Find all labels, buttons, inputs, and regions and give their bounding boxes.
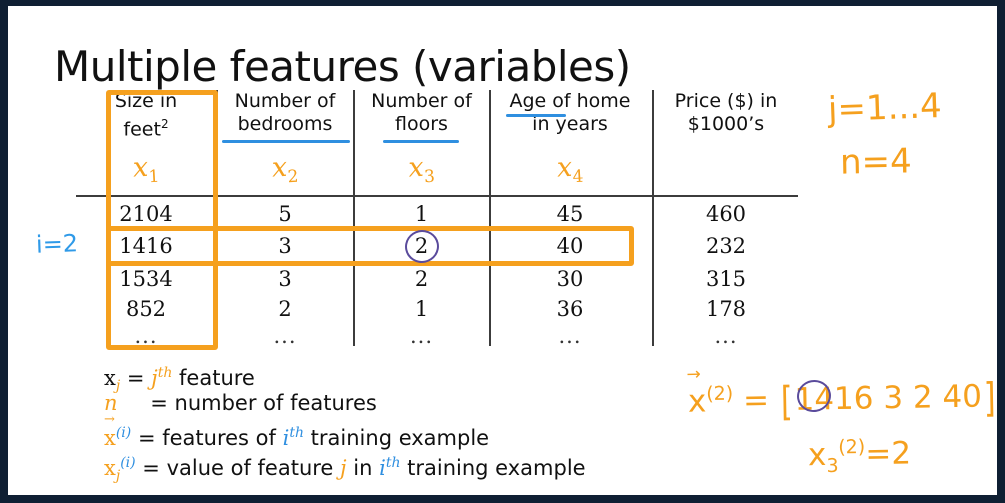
table-cell: 178 bbox=[654, 297, 798, 321]
table-cell: ... bbox=[491, 324, 649, 348]
def-ordinal-j: j bbox=[340, 456, 347, 480]
header-line2: floors bbox=[355, 113, 488, 136]
def-equals: = bbox=[127, 366, 145, 390]
def-sup-i: (i) bbox=[116, 425, 131, 441]
annotation-j-range: j=1...4 bbox=[827, 86, 942, 130]
annotation-x3-superscript: (2) bbox=[838, 436, 865, 458]
def-equals: = bbox=[138, 426, 156, 450]
def-text: value of feature bbox=[167, 456, 334, 480]
def-var-x: x bbox=[104, 456, 116, 480]
definition-feature: xj = jth feature bbox=[104, 358, 586, 388]
table-cell: 1 bbox=[355, 297, 488, 321]
annotation-i-value: i=2 bbox=[36, 229, 79, 258]
header-line2: $1000’s bbox=[654, 113, 798, 136]
def-text: training example bbox=[407, 456, 585, 480]
highlight-row-example-2 bbox=[106, 226, 634, 266]
annotation-vector-equation: x(2) = [1416 3 2 40] bbox=[688, 375, 997, 426]
annotation-vector-value: 2 bbox=[913, 379, 933, 415]
definition-x-ij: xj(i) = value of feature j in ith traini… bbox=[104, 448, 586, 478]
table-header-age: Age of home in years bbox=[491, 90, 649, 136]
header-line1: Age of home bbox=[509, 90, 630, 112]
annotation-bracket-open: [ bbox=[781, 379, 794, 425]
annotation-vector-value: 40 bbox=[942, 379, 982, 416]
table-cell: 36 bbox=[491, 297, 649, 321]
annotation-x3-value: 2 bbox=[891, 435, 911, 471]
slide-canvas: Multiple features (variables) Size in fe… bbox=[8, 6, 997, 495]
annotation-bracket-close: ] bbox=[984, 375, 997, 421]
page-title: Multiple features (variables) bbox=[54, 42, 631, 91]
underline-floors bbox=[383, 140, 459, 143]
definitions-block: xj = jth feature n = number of features … bbox=[104, 358, 586, 478]
table-cell: 2 bbox=[218, 297, 352, 321]
def-var-x-vector: x bbox=[104, 426, 116, 450]
def-text: in bbox=[353, 456, 372, 480]
annotation-equals: = bbox=[865, 436, 892, 472]
table-cell: 45 bbox=[491, 202, 649, 226]
table-cell: 2 bbox=[355, 267, 488, 291]
def-ordinal-th: th bbox=[386, 455, 401, 471]
definition-x-vector: x(i) = features of ith training example bbox=[104, 418, 586, 448]
table-cell: 315 bbox=[654, 267, 798, 291]
features-table: Size in feet2 Number of bedrooms Number … bbox=[76, 90, 798, 346]
def-text: feature bbox=[179, 366, 255, 390]
def-ordinal-th: th bbox=[289, 425, 304, 441]
header-line2: bedrooms bbox=[218, 113, 352, 136]
annotation-vector-x: x bbox=[688, 383, 707, 419]
annotation-x3-subscript: 3 bbox=[826, 455, 838, 477]
table-cell: 1 bbox=[355, 202, 488, 226]
annotation-equals: = bbox=[743, 382, 770, 418]
header-line1: Number of bbox=[235, 90, 336, 112]
annotation-vector-value: 3 bbox=[883, 380, 903, 416]
feature-symbol-x3: x3 bbox=[354, 149, 489, 191]
table-cell: ... bbox=[355, 324, 488, 348]
annotation-x3-equation: x3(2)=2 bbox=[808, 435, 912, 477]
def-text: number of features bbox=[175, 391, 377, 415]
slide-frame: Multiple features (variables) Size in fe… bbox=[0, 0, 1005, 503]
annotation-x3-x: x bbox=[808, 437, 827, 473]
feature-symbol-x4: x4 bbox=[490, 148, 650, 192]
def-var-x: x bbox=[104, 366, 116, 390]
feature-symbol-x2: x2 bbox=[217, 149, 353, 191]
table-cell: 232 bbox=[654, 234, 798, 258]
header-line1: Number of bbox=[371, 90, 472, 112]
table-cell: 460 bbox=[654, 202, 798, 226]
annotation-n-value: n=4 bbox=[840, 141, 912, 182]
def-sup-i: (i) bbox=[120, 455, 135, 471]
def-equals: = bbox=[142, 456, 160, 480]
table-cell: 3 bbox=[218, 267, 352, 291]
table-header-floors: Number of floors bbox=[355, 90, 488, 136]
def-ordinal-i: i bbox=[379, 456, 386, 480]
annotation-vector-superscript: (2) bbox=[706, 383, 733, 405]
table-cell: ... bbox=[654, 324, 798, 348]
underline-bedrooms bbox=[222, 140, 350, 143]
table-cell: 30 bbox=[491, 267, 649, 291]
def-text: features of bbox=[162, 426, 276, 450]
definition-n: n = number of features bbox=[104, 388, 586, 418]
header-line1: Price ($) in bbox=[675, 90, 778, 112]
highlight-column-x1 bbox=[106, 90, 218, 350]
table-header-price: Price ($) in $1000’s bbox=[654, 90, 798, 136]
table-cell: 5 bbox=[218, 202, 352, 226]
table-header-bedrooms: Number of bedrooms bbox=[218, 90, 352, 136]
def-equals: = bbox=[150, 391, 168, 415]
def-ordinal-th: th bbox=[158, 365, 173, 381]
def-text: training example bbox=[311, 426, 489, 450]
underline-age bbox=[506, 114, 566, 117]
table-cell: ... bbox=[218, 324, 352, 348]
